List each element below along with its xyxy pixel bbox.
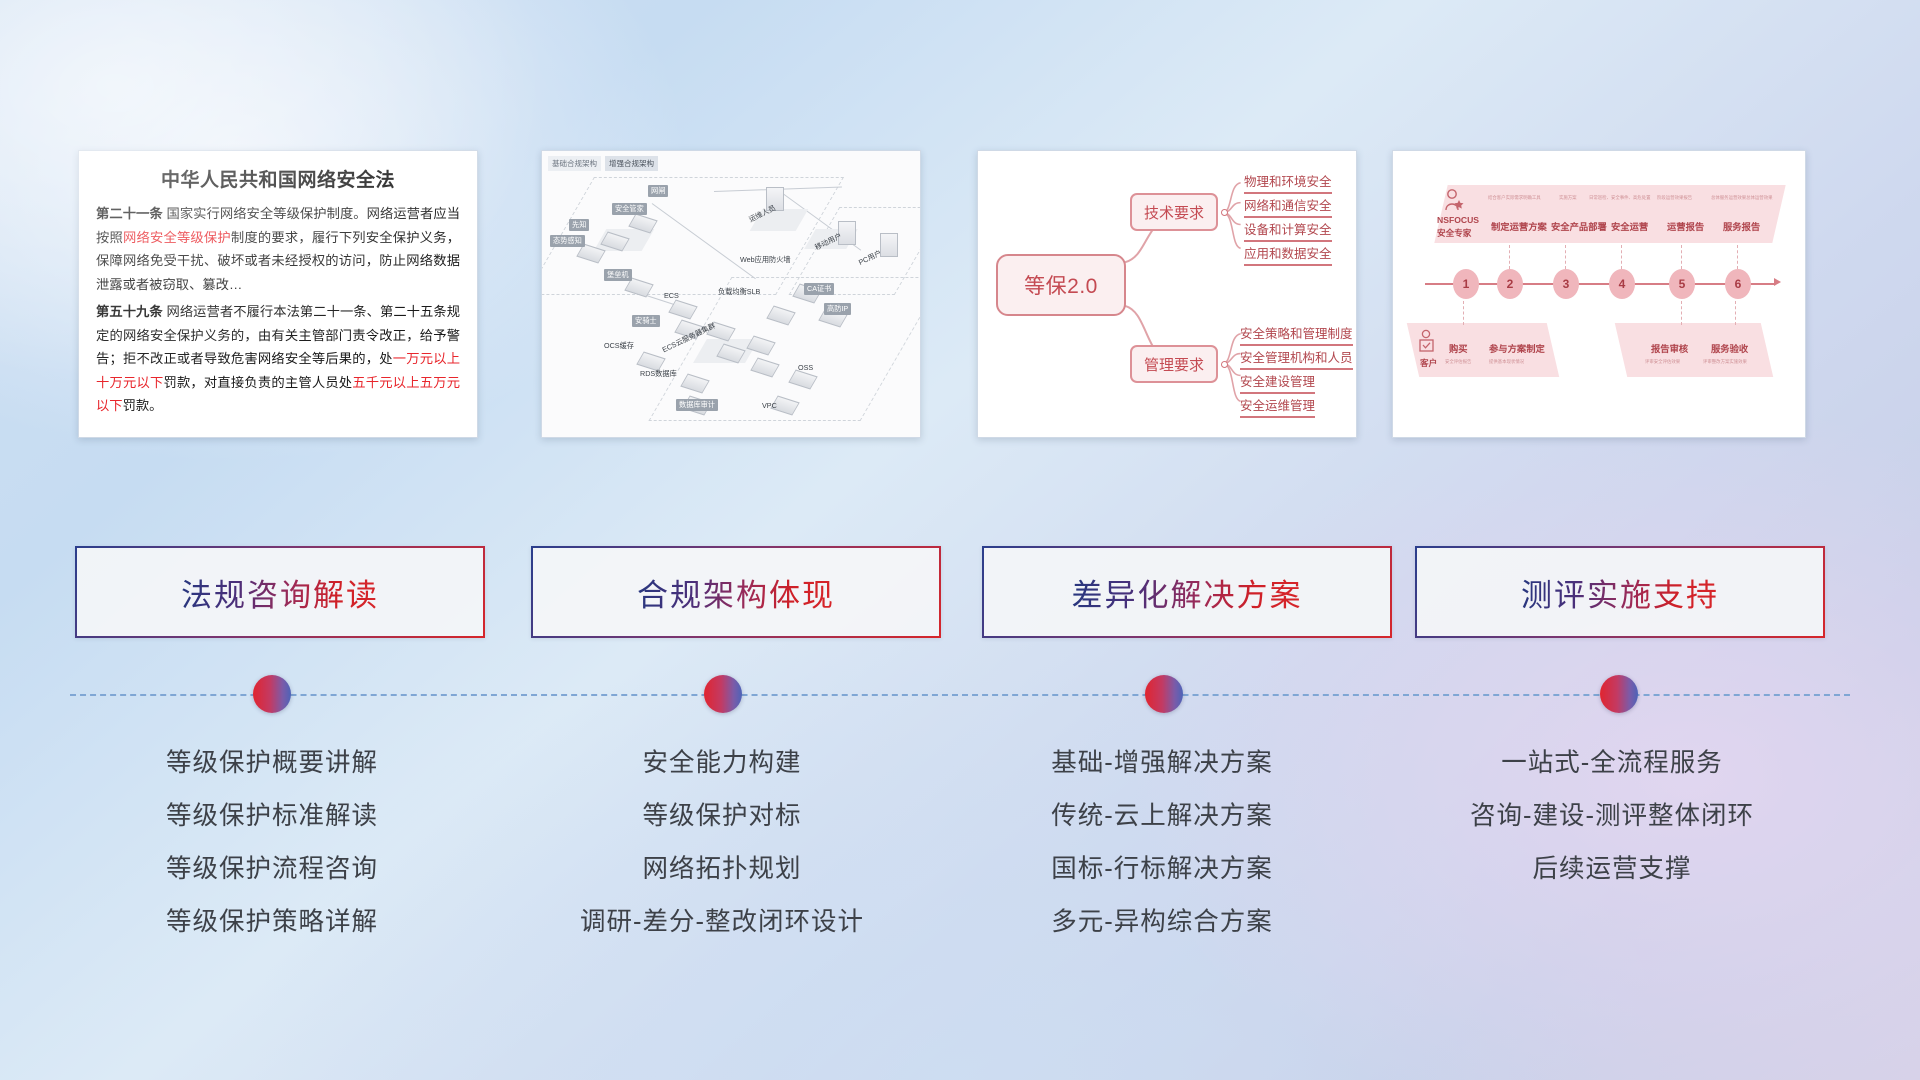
timeline-node-3[interactable]: 3 <box>1553 269 1579 299</box>
law-article-59-label: 第五十九条 <box>96 304 163 319</box>
timeline-top-title-4: 安全运营 <box>1611 219 1648 233</box>
architecture-label-gateway: 网闸 <box>648 185 668 197</box>
timeline-dropper <box>1565 245 1566 269</box>
heading-box-evaluation-support[interactable]: 测评实施支持 <box>1415 546 1825 638</box>
image-cards-row: 中华人民共和国网络安全法 第二十一条 国家实行网络安全等级保护制度。网络运营者应… <box>0 150 1920 440</box>
timeline-bottom-title-6: 服务验收 <box>1711 341 1748 355</box>
heading-label-2: 合规架构体现 <box>637 570 835 615</box>
card-service-timeline[interactable]: NSFOCUS 安全专家 结合客户实际需求明确工具 制定运营方案 实施方案 安全… <box>1392 150 1806 438</box>
timeline-marker-1[interactable] <box>253 675 291 713</box>
customer-role-label: 客户 <box>1420 357 1437 369</box>
architecture-label-waf: Web应用防火墙 <box>740 255 791 265</box>
timeline-dashed-line <box>70 694 1850 696</box>
timeline-bottom-sub-1: 安全评估报告 <box>1445 359 1471 365</box>
heading-box-differentiated-solution[interactable]: 差异化解决方案 <box>982 546 1392 638</box>
timeline-bottom-sub-2: 提供基本现状情况 <box>1489 359 1524 365</box>
expert-brand-label: NSFOCUS <box>1437 215 1479 225</box>
mindmap-branch-dot <box>1221 209 1228 216</box>
bullet-column-1: 等级保护概要讲解 等级保护标准解读 等级保护流程咨询 等级保护策略详解 <box>62 742 482 938</box>
timeline-band-provider <box>1434 185 1785 243</box>
timeline-axis-arrow-icon <box>1774 278 1781 286</box>
architecture-label-situation-awareness: 态势感知 <box>550 235 585 247</box>
architecture-label-security-manager: 安全管家 <box>612 203 647 215</box>
law-article-59: 第五十九条 网络运营者不履行本法第二十一条、第二十五条规定的网络安全保护义务的，… <box>96 300 460 418</box>
card-architecture-diagram[interactable]: 基础合规架构 增强合规架构 <box>541 150 921 438</box>
timeline-top-title-3: 安全产品部署 <box>1551 219 1607 233</box>
mindmap-leaf-ops-mgmt: 安全运维管理 <box>1240 395 1315 418</box>
architecture-label-oss: OSS <box>798 363 813 372</box>
bullet-item: 基础-增强解决方案 <box>1051 742 1273 779</box>
timeline-top-sub-4: 日常巡检、安全事件、高危处置 <box>1589 195 1650 201</box>
timeline-node-4[interactable]: 4 <box>1609 269 1635 299</box>
architecture-label-db-audit: 数据库审计 <box>676 399 718 411</box>
mindmap-leaf-policy-system: 安全策略和管理制度 <box>1240 323 1353 346</box>
bullet-item: 国标-行标解决方案 <box>1051 848 1273 885</box>
card-law-document[interactable]: 中华人民共和国网络安全法 第二十一条 国家实行网络安全等级保护制度。网络运营者应… <box>78 150 478 438</box>
law-article-21: 第二十一条 国家实行网络安全等级保护制度。网络运营者应当按照网络安全等级保护制度… <box>96 202 460 296</box>
timeline-marker-3[interactable] <box>1145 675 1183 713</box>
law-article-21-label: 第二十一条 <box>96 206 163 221</box>
mindmap-branch-management[interactable]: 管理要求 <box>1130 345 1218 383</box>
mindmap-canvas: 等保2.0 技术要求 物理和环境安全 网络和通信安全 设备和计算安全 应用和数据… <box>978 151 1356 437</box>
bullet-item: 等级保护标准解读 <box>166 795 378 832</box>
bullet-item: 多元-异构综合方案 <box>1051 901 1273 938</box>
heading-label-4: 测评实施支持 <box>1521 570 1719 615</box>
expert-person-icon <box>1443 188 1465 212</box>
bullet-item: 传统-云上解决方案 <box>1051 795 1273 832</box>
timeline-dropper <box>1737 245 1738 269</box>
slide-canvas: 中华人民共和国网络安全法 第二十一条 国家实行网络安全等级保护制度。网络运营者应… <box>0 0 1920 1080</box>
bullet-item: 等级保护对标 <box>642 795 801 832</box>
architecture-label-vpc: VPC <box>762 401 777 410</box>
timeline-node-6[interactable]: 6 <box>1725 269 1751 299</box>
heading-box-regulation-consulting[interactable]: 法规咨询解读 <box>75 546 485 638</box>
timeline-dropper <box>1681 245 1682 269</box>
architecture-label-rds-database: RDS数据库 <box>640 369 677 379</box>
timeline-bottom-title-1: 购买 <box>1449 341 1468 355</box>
timeline-band-customer-right <box>1615 323 1773 377</box>
bullet-item: 网络拓扑规划 <box>642 848 801 885</box>
timeline-node-2[interactable]: 2 <box>1497 269 1523 299</box>
bullet-item: 安全能力构建 <box>642 742 801 779</box>
timeline-top-sub-6: 总体服务运营效果总体运营效果 <box>1711 195 1772 201</box>
bullet-column-3: 基础-增强解决方案 传统-云上解决方案 国标-行标解决方案 多元-异构综合方案 <box>952 742 1372 938</box>
mindmap-leaf-network-comm: 网络和通信安全 <box>1244 195 1332 218</box>
timeline-top-title-5: 运营报告 <box>1667 219 1704 233</box>
architecture-label-anqishi: 安骑士 <box>632 315 660 327</box>
card-mindmap[interactable]: 等保2.0 技术要求 物理和环境安全 网络和通信安全 设备和计算安全 应用和数据… <box>977 150 1357 438</box>
mindmap-branch-dot <box>1221 361 1228 368</box>
timeline-node-1[interactable]: 1 <box>1453 269 1479 299</box>
timeline-dropper <box>1509 245 1510 269</box>
architecture-label-slb: 负载均衡SLB <box>718 287 760 297</box>
timeline-dropper <box>1681 301 1682 325</box>
mindmap-leaf-org-personnel: 安全管理机构和人员 <box>1240 347 1353 370</box>
heading-label-3: 差异化解决方案 <box>1072 570 1303 615</box>
mindmap-leaf-construction-mgmt: 安全建设管理 <box>1240 371 1315 394</box>
bullet-item: 等级保护策略详解 <box>166 901 378 938</box>
mindmap-root-node[interactable]: 等保2.0 <box>996 254 1126 316</box>
architecture-label-anti-ddos-ip: 高防IP <box>824 303 851 315</box>
architecture-server-icon <box>880 233 898 257</box>
timeline-marker-4[interactable] <box>1600 675 1638 713</box>
timeline-dropper <box>1463 301 1464 325</box>
bullet-item: 等级保护概要讲解 <box>166 742 378 779</box>
bullet-item: 咨询-建设-测评整体闭环 <box>1470 795 1754 832</box>
heading-label-1: 法规咨询解读 <box>181 570 379 615</box>
mindmap-leaf-app-data: 应用和数据安全 <box>1244 243 1332 266</box>
customer-person-icon <box>1418 329 1438 355</box>
timeline-dropper <box>1621 245 1622 269</box>
architecture-label-bastion-host: 堡垒机 <box>604 269 632 281</box>
architecture-canvas: 基础合规架构 增强合规架构 <box>542 151 920 437</box>
bullet-item: 等级保护流程咨询 <box>166 848 378 885</box>
expert-role-label: 安全专家 <box>1437 227 1471 239</box>
architecture-tabs: 基础合规架构 增强合规架构 <box>548 156 658 171</box>
timeline-top-sub-2: 结合客户实际需求明确工具 <box>1488 195 1541 201</box>
timeline-bottom-sub-5: 评审安全评估效果 <box>1645 359 1680 365</box>
mindmap-leaf-device-compute: 设备和计算安全 <box>1244 219 1332 242</box>
bullet-column-2: 安全能力构建 等级保护对标 网络拓扑规划 调研-差分-整改闭环设计 <box>512 742 932 938</box>
law-article-21-highlight: 网络安全等级保护 <box>123 230 231 245</box>
law-title: 中华人民共和国网络安全法 <box>96 165 460 192</box>
timeline-canvas: NSFOCUS 安全专家 结合客户实际需求明确工具 制定运营方案 实施方案 安全… <box>1393 151 1805 437</box>
architecture-label-xianzhi: 先知 <box>569 219 589 231</box>
timeline-top-title-2: 制定运营方案 <box>1491 219 1547 233</box>
timeline-top-sub-3: 实施方案 <box>1559 195 1577 201</box>
mindmap-branch-technical[interactable]: 技术要求 <box>1130 193 1218 231</box>
heading-box-compliance-architecture[interactable]: 合规架构体现 <box>531 546 941 638</box>
bullet-item: 后续运营支撑 <box>1532 848 1691 885</box>
mindmap-leaf-physical-env: 物理和环境安全 <box>1244 171 1332 194</box>
architecture-label-ca-cert: CA证书 <box>804 283 834 295</box>
architecture-label-ecs: ECS <box>664 291 679 300</box>
timeline-bottom-sub-6: 评审整改方案实施效果 <box>1703 359 1747 365</box>
timeline-bottom-title-5: 报告审核 <box>1651 341 1688 355</box>
timeline-dropper <box>1735 301 1736 325</box>
timeline-node-5[interactable]: 5 <box>1669 269 1695 299</box>
architecture-label-ocs-cache: OCS缓存 <box>604 341 634 351</box>
bullet-item: 一站式-全流程服务 <box>1501 742 1723 779</box>
timeline-top-sub-5: 阶段运营效果报告 <box>1657 195 1692 201</box>
bullet-column-4: 一站式-全流程服务 咨询-建设-测评整体闭环 后续运营支撑 <box>1402 742 1822 885</box>
timeline-bottom-title-2: 参与方案制定 <box>1489 341 1545 355</box>
law-article-59-text-c: 罚款。 <box>123 398 163 413</box>
architecture-tab-basic[interactable]: 基础合规架构 <box>548 156 601 171</box>
architecture-node-box <box>668 300 697 320</box>
timeline-top-title-6: 服务报告 <box>1723 219 1760 233</box>
timeline-marker-2[interactable] <box>704 675 742 713</box>
law-article-59-text-b: 罚款，对直接负责的主管人员处 <box>163 375 352 390</box>
bullet-item: 调研-差分-整改闭环设计 <box>580 901 864 938</box>
architecture-tab-enhanced[interactable]: 增强合规架构 <box>605 156 658 171</box>
